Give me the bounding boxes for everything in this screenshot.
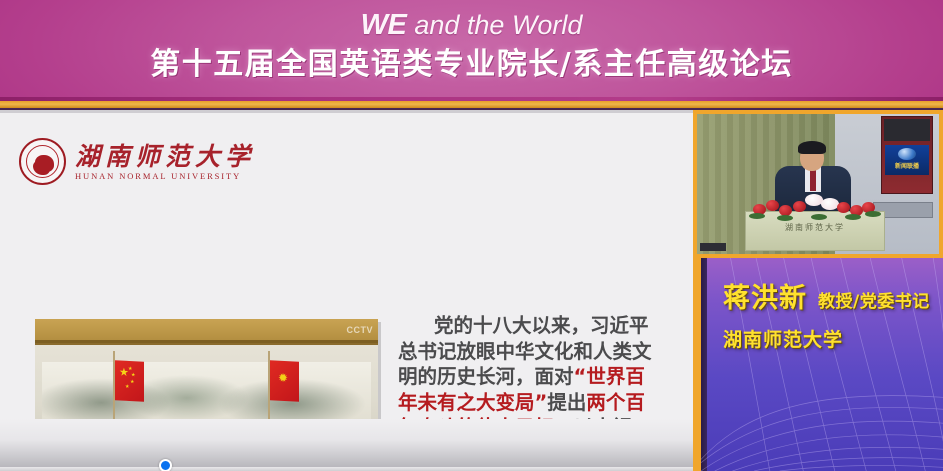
university-seal-icon bbox=[19, 138, 66, 185]
brand-logo-text: and the World bbox=[414, 10, 582, 41]
party-flag-icon: ✹ bbox=[270, 361, 299, 413]
brand-logo: WE and the World bbox=[361, 9, 583, 43]
screen-badge-cn: 新闻联播 bbox=[885, 161, 929, 170]
speaker-title: 教授/党委书记 bbox=[818, 287, 930, 312]
slide-text-segment: 提出 bbox=[547, 391, 586, 414]
university-logo: 湖南师范大学 HUNAN NORMAL UNIVERSITY bbox=[19, 138, 255, 185]
speaker-nameplate: 蒋洪新 教授/党委书记 湖南师范大学 bbox=[697, 258, 943, 471]
speaker-video-feed[interactable]: 新闻联播 湖南师范大学 bbox=[697, 110, 943, 258]
university-name-en: HUNAN NORMAL UNIVERSITY bbox=[75, 171, 255, 181]
forum-title: 第十五届全国英语类专业院长/系主任高级论坛 bbox=[150, 45, 792, 85]
presentation-slide[interactable]: 湖南师范大学 HUNAN NORMAL UNIVERSITY ★ ★ ★ bbox=[0, 110, 697, 471]
player-progress-track[interactable] bbox=[0, 467, 697, 471]
flower-arrangement bbox=[749, 190, 881, 220]
event-banner: WE and the World 第十五届全国英语类专业院长/系主任高级论坛 bbox=[0, 0, 943, 101]
screen-root: WE and the World 第十五届全国英语类专业院长/系主任高级论坛 湖… bbox=[0, 0, 943, 471]
cctv-watermark: CCTV bbox=[347, 325, 374, 335]
player-progress-handle[interactable] bbox=[159, 459, 172, 471]
speaker-name: 蒋洪新 bbox=[723, 283, 807, 315]
speaker-organization: 湖南师范大学 bbox=[723, 325, 937, 352]
national-flag-icon: ★ ★ ★ ★ ★ bbox=[115, 361, 144, 413]
globe-icon bbox=[898, 148, 916, 160]
brand-logo-we: WE bbox=[361, 9, 410, 42]
wall-screen: 新闻联播 bbox=[881, 116, 933, 194]
feed-watermark bbox=[700, 243, 726, 251]
gold-divider bbox=[0, 101, 943, 108]
podium-text: 湖南师范大学 bbox=[746, 222, 884, 233]
university-name-cn: 湖南师范大学 bbox=[75, 143, 255, 170]
slide-bottom-shade bbox=[0, 419, 693, 471]
right-column: 新闻联播 湖南师范大学 bbox=[697, 110, 943, 471]
